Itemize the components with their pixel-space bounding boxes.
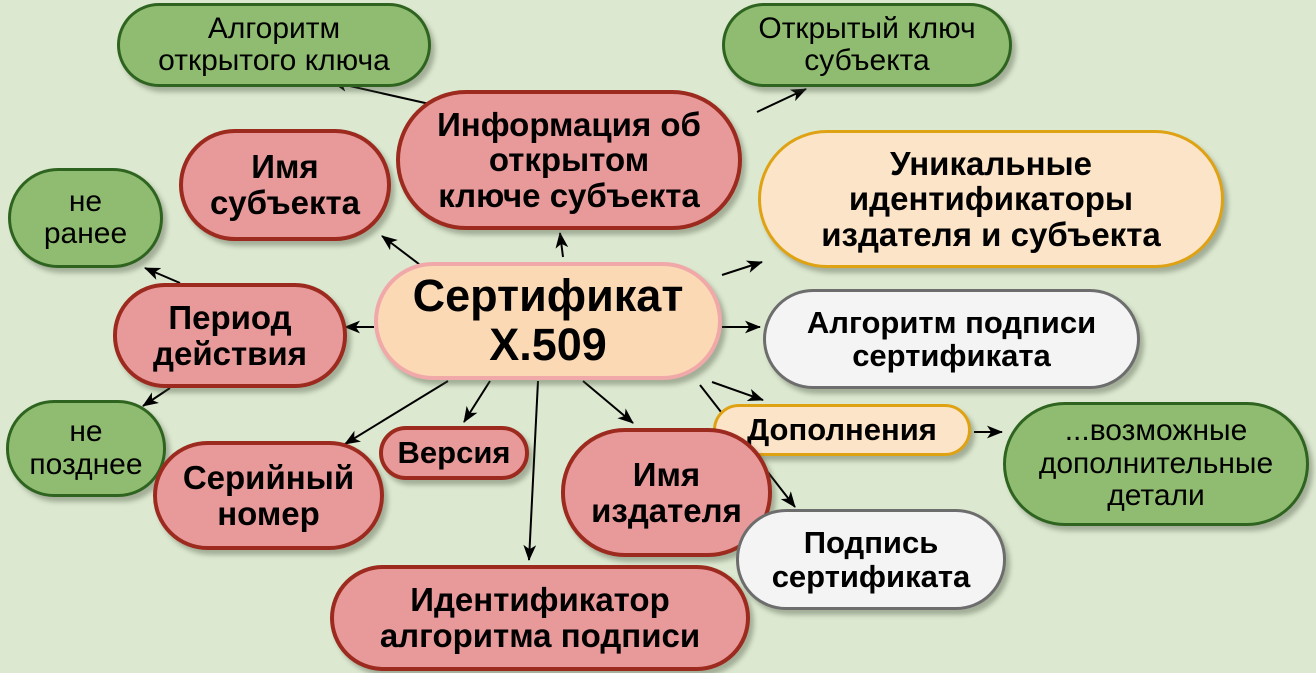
node-possible-extra-details[interactable]: ...возможные дополнительные детали — [1003, 402, 1309, 526]
node-label: не ранее — [44, 186, 127, 251]
diagram-canvas: Алгоритм открытого ключаОткрытый ключ су… — [0, 0, 1316, 673]
node-label: Имя издателя — [591, 457, 742, 528]
node-label: ...возможные дополнительные детали — [1039, 415, 1273, 512]
node-label: Серийный номер — [183, 460, 354, 531]
edge-validity-period-to-not-before — [145, 268, 180, 283]
node-label: Открытый ключ субъекта — [758, 13, 975, 78]
edge-certificate-x509-to-unique-identifiers — [722, 262, 762, 275]
node-certificate-x509[interactable]: Сертификат X.509 — [374, 262, 722, 380]
node-unique-identifiers[interactable]: Уникальные идентификаторы издателя и суб… — [758, 130, 1224, 268]
node-label: Сертификат X.509 — [413, 272, 684, 369]
node-not-before[interactable]: не ранее — [8, 168, 163, 268]
node-subject-public-key-info[interactable]: Информация об открытом ключе субъекта — [396, 90, 742, 230]
edge-certificate-x509-to-issuer-name — [583, 381, 633, 423]
node-label: Информация об открытом ключе субъекта — [437, 107, 701, 214]
edge-certificate-x509-to-version — [464, 381, 490, 422]
edge-subject-public-key-info-to-subject-public-key — [757, 89, 806, 112]
node-certificate-signature[interactable]: Подпись сертификата — [736, 509, 1006, 610]
edge-certificate-x509-to-signature-algorithm-identifier — [529, 381, 538, 560]
node-label: Имя субъекта — [210, 149, 360, 220]
node-signature-algorithm-identifier[interactable]: Идентификатор алгоритма подписи — [330, 565, 750, 671]
node-serial-number[interactable]: Серийный номер — [153, 441, 384, 550]
edge-certificate-x509-to-extensions — [712, 382, 763, 400]
node-label: Идентификатор алгоритма подписи — [380, 582, 700, 653]
node-label: не позднее — [29, 416, 142, 481]
node-label: Подпись сертификата — [772, 526, 971, 593]
node-not-after[interactable]: не позднее — [6, 400, 166, 497]
node-validity-period[interactable]: Период действия — [113, 283, 347, 388]
node-label: Уникальные идентификаторы издателя и суб… — [821, 146, 1160, 253]
node-label: Алгоритм подписи сертификата — [807, 306, 1096, 373]
node-label: Дополнения — [747, 413, 937, 446]
node-label: Версия — [398, 436, 511, 469]
node-version[interactable]: Версия — [379, 426, 529, 480]
node-subject-public-key[interactable]: Открытый ключ субъекта — [722, 3, 1012, 87]
node-certificate-signature-algorithm[interactable]: Алгоритм подписи сертификата — [763, 289, 1140, 389]
edge-certificate-x509-to-subject-public-key-info — [560, 233, 563, 257]
node-label: Алгоритм открытого ключа — [158, 13, 390, 78]
node-subject-name[interactable]: Имя субъекта — [179, 129, 391, 241]
node-label: Период действия — [153, 300, 307, 371]
edge-validity-period-to-not-after — [143, 388, 170, 406]
node-public-key-algorithm[interactable]: Алгоритм открытого ключа — [117, 3, 431, 87]
